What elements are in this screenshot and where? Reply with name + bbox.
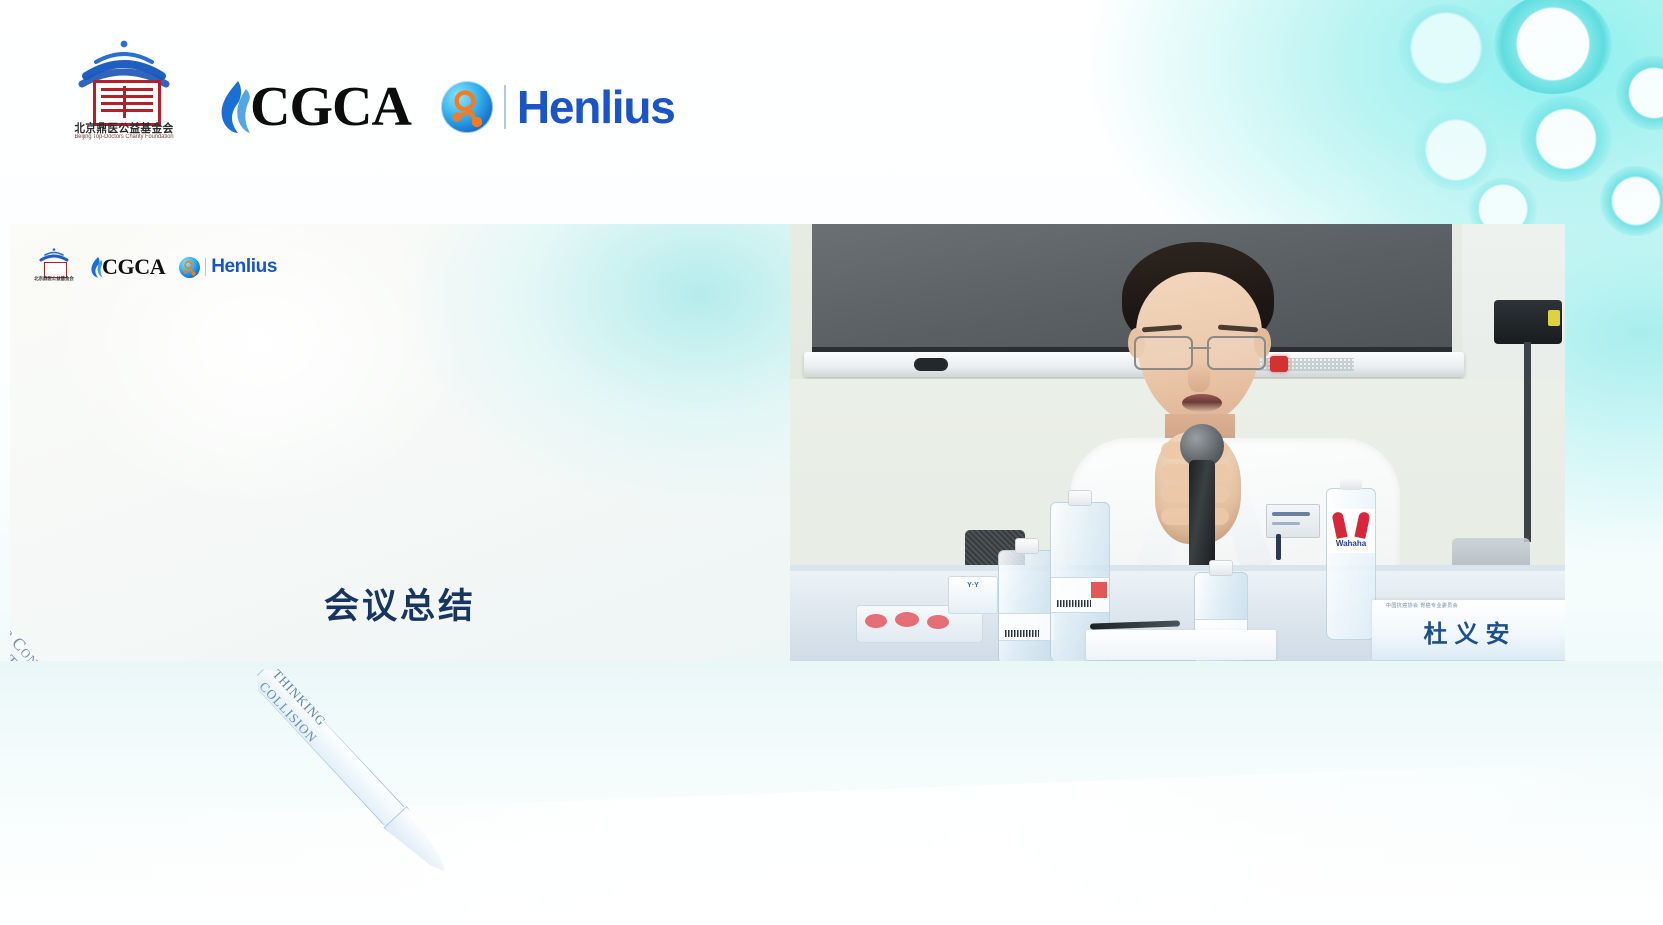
slide-henlius-logo: Henlius bbox=[179, 256, 277, 278]
slide-henlius-divider bbox=[205, 258, 206, 276]
placard-header-text: 中国抗癌协会 胃癌专业委员会 bbox=[1386, 602, 1458, 609]
slide-title: 会议总结 bbox=[10, 578, 790, 629]
table-documents bbox=[1086, 630, 1276, 660]
slide-cgca-wordmark: CGCA bbox=[102, 254, 165, 280]
yogurt-cup: Y·Y bbox=[948, 576, 998, 614]
placard-name-text: 杜义安 bbox=[1372, 614, 1565, 649]
bottle-label bbox=[999, 613, 1055, 641]
header-logos: 北京鼎医公益基金会 Beijing Top-Doctors Charity Fo… bbox=[60, 38, 675, 138]
name-placard: 中国抗癌协会 胃癌专业委员会 杜义安 bbox=[1372, 600, 1565, 660]
henlius-logo: Henlius bbox=[441, 76, 675, 138]
slide-foundation-logo: 北京鼎医公益基金会 bbox=[32, 248, 76, 286]
water-bottle-front bbox=[998, 550, 1056, 662]
bottle-cap bbox=[1209, 560, 1233, 576]
slide-henlius-wordmark: Henlius bbox=[211, 256, 277, 278]
henlius-mark-icon bbox=[441, 81, 493, 133]
cgca-logo: CGCA bbox=[218, 76, 411, 138]
footer-light-sweep bbox=[0, 759, 1663, 925]
slide-foundation-cn-name: 北京鼎医公益基金会 bbox=[32, 276, 76, 282]
watermark-converge-rest: ONVERGE bbox=[17, 645, 73, 661]
table-objects-layer: Y·Y Wahaha 中国抗癌协会 胃癌专业 bbox=[790, 440, 1565, 662]
foundation-en-name: Beijing Top-Doctors Charity Foundation bbox=[63, 134, 185, 140]
footer-band: THINKING COLLISION bbox=[0, 661, 1663, 925]
slide-henlius-mark-icon bbox=[179, 257, 200, 278]
bottle-cap bbox=[1340, 477, 1362, 490]
wahaha-label: Wahaha bbox=[1327, 509, 1375, 553]
footer-watermark-line-1: THINKING bbox=[269, 666, 329, 729]
slide-cgca-logo: CGCA bbox=[90, 254, 165, 280]
water-bottle-wahaha: Wahaha bbox=[1326, 488, 1376, 640]
footer-watermark-line-2: COLLISION bbox=[256, 679, 321, 747]
cgca-flame-icon bbox=[218, 79, 252, 135]
cgca-wordmark: CGCA bbox=[250, 79, 411, 135]
henlius-divider bbox=[504, 85, 506, 129]
watermark-converge-cap: C bbox=[10, 633, 31, 655]
henlius-wordmark: Henlius bbox=[517, 84, 675, 130]
bottle-cap bbox=[1068, 490, 1092, 506]
bottle-label-aquafina bbox=[1051, 577, 1109, 613]
presentation-slide[interactable]: 北京鼎医公益基金会 CGCA bbox=[10, 224, 790, 661]
slide-logo-row: 北京鼎医公益基金会 CGCA bbox=[32, 248, 277, 286]
yogurt-brand-text: Y·Y bbox=[949, 582, 997, 589]
watermark-technology-cap: T bbox=[10, 651, 22, 661]
wahaha-brand-text: Wahaha bbox=[1327, 539, 1375, 548]
broadcast-stage: 北京鼎医公益基金会 Beijing Top-Doctors Charity Fo… bbox=[0, 0, 1663, 925]
header-logo-strip: 北京鼎医公益基金会 Beijing Top-Doctors Charity Fo… bbox=[0, 0, 1663, 225]
slide-cgca-flame-icon bbox=[90, 256, 103, 278]
bottle-cap bbox=[1015, 538, 1039, 554]
foundation-logo: 北京鼎医公益基金会 Beijing Top-Doctors Charity Fo… bbox=[60, 38, 188, 138]
